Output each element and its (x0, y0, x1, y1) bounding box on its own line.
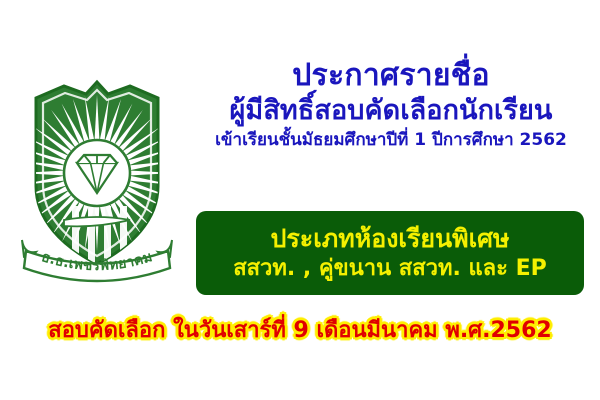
announcement-poster: ธ.ธ.เพชรพิทยาคม ประกาศรายชื่อ ผู้มีสิทธิ… (0, 0, 600, 400)
page-detail-line: เข้าเรียนชั้นมัธยมศึกษาปีที่ 1 ปีการศึกษ… (188, 130, 594, 150)
page-title: ประกาศรายชื่อ (188, 60, 594, 92)
program-type-title: ประเภทห้องเรียนพิเศษ (270, 224, 509, 254)
exam-date-banner: สอบคัดเลือก ในวันเสาร์ที่ 9 เดือนมีนาคม … (0, 312, 600, 347)
diamond-icon (64, 140, 130, 206)
school-crest-logo: ธ.ธ.เพชรพิทยาคม (12, 68, 182, 293)
page-subtitle: ผู้มีสิทธิ์สอบคัดเลือกนักเรียน (188, 95, 594, 126)
heading-block: ประกาศรายชื่อ ผู้มีสิทธิ์สอบคัดเลือกนักเ… (188, 60, 594, 151)
program-type-list: สสวท. , คู่ขนาน สสวท. และ EP (233, 256, 547, 282)
program-type-box: ประเภทห้องเรียนพิเศษ สสวท. , คู่ขนาน สสว… (196, 211, 584, 295)
